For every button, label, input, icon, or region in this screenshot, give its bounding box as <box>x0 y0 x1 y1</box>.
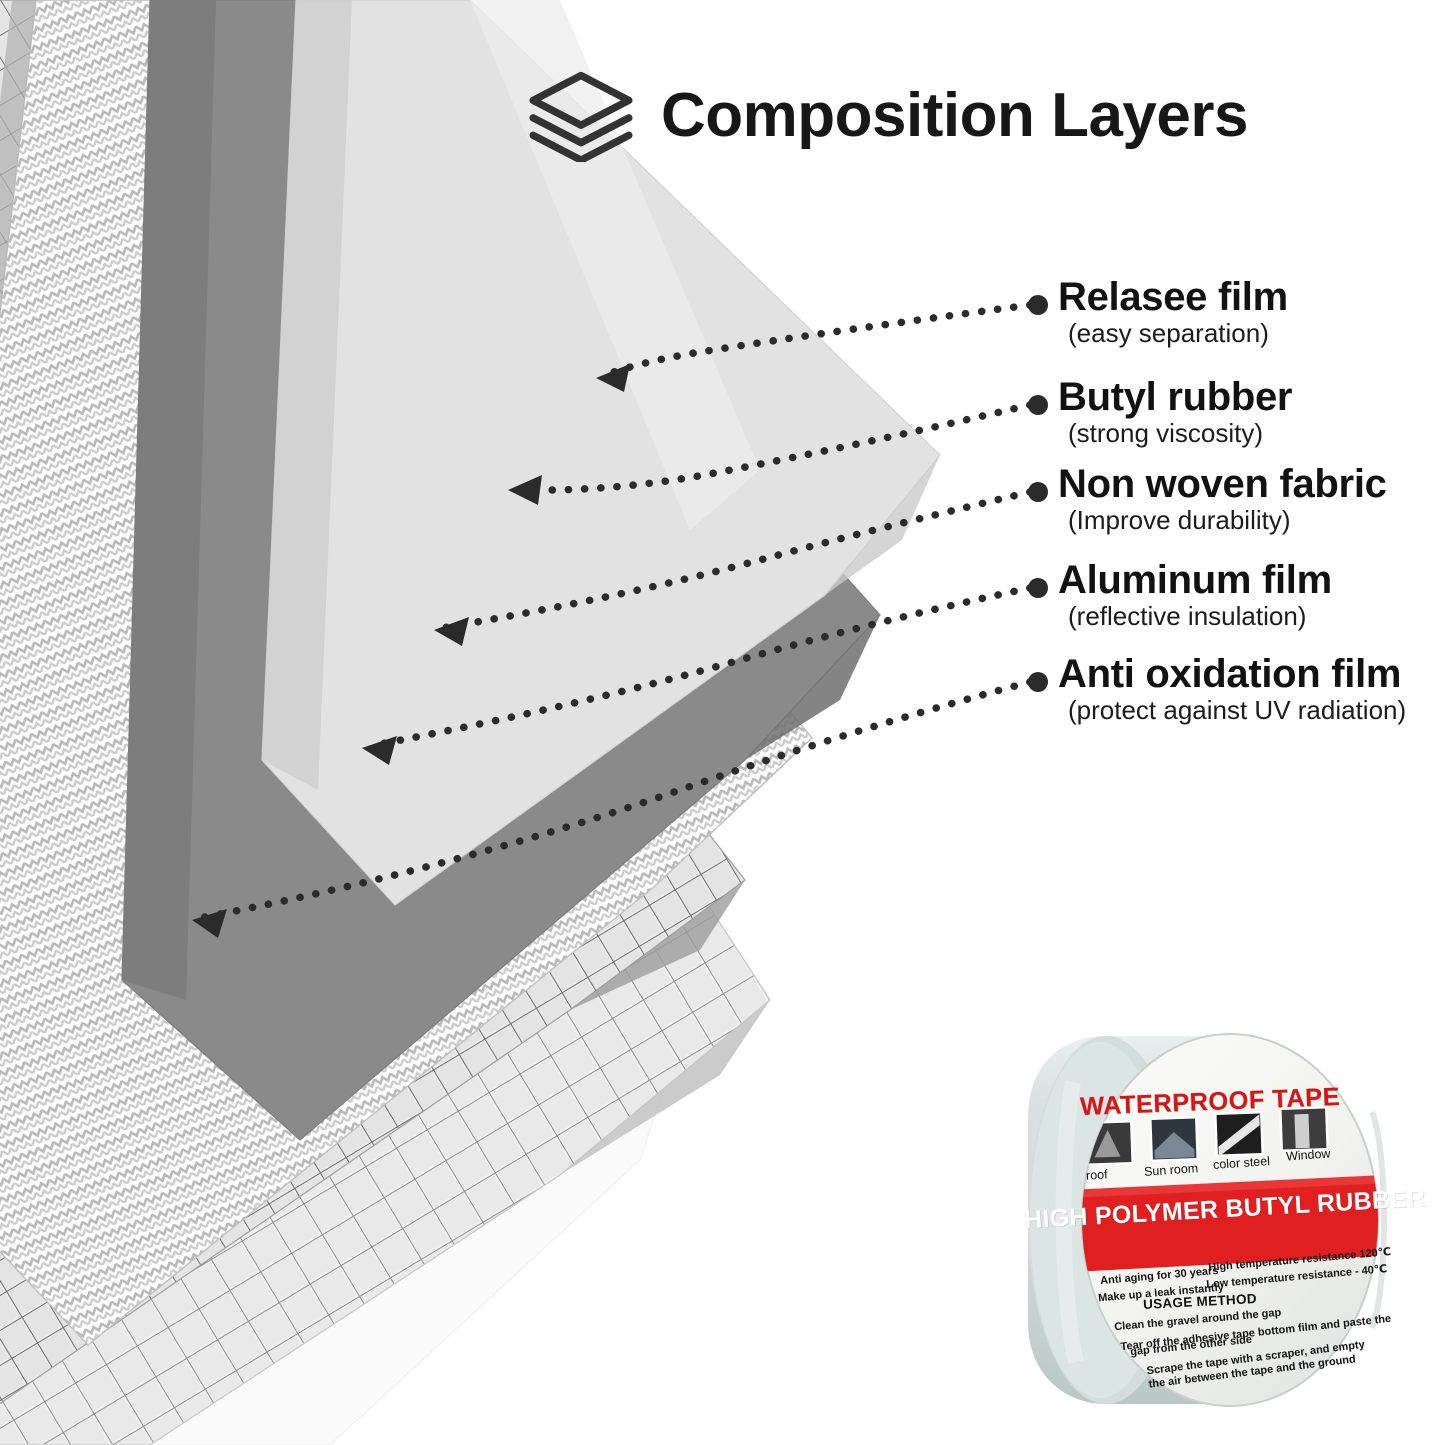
callout-title: Aluminum film <box>1058 560 1332 601</box>
layers-stack-icon <box>525 70 637 162</box>
callout-subtitle: (easy separation) <box>1068 320 1288 347</box>
callout-subtitle: (reflective insulation) <box>1068 603 1332 630</box>
infographic-canvas: Composition Layers Relasee film (easy se… <box>0 0 1445 1445</box>
callout-subtitle: (strong viscosity) <box>1068 420 1292 447</box>
callout-anti-oxidation-film: Anti oxidation film (protect against UV … <box>1058 654 1406 724</box>
callout-title: Relasee film <box>1058 277 1288 318</box>
callout-release-film: Relasee film (easy separation) <box>1058 277 1288 347</box>
callout-aluminum-film: Aluminum film (reflective insulation) <box>1058 560 1332 630</box>
page-title-group: Composition Layers <box>525 70 1248 162</box>
page-title: Composition Layers <box>661 85 1248 147</box>
callout-butyl-rubber: Butyl rubber (strong viscosity) <box>1058 377 1292 447</box>
callout-non-woven-fabric: Non woven fabric (Improve durability) <box>1058 464 1387 534</box>
callout-subtitle: (protect against UV radiation) <box>1068 697 1406 724</box>
dot-release-film <box>1028 295 1048 315</box>
product-tape-roll: WATERPROOF TAPE roof Sun room color stee… <box>968 1022 1438 1422</box>
dot-non-woven <box>1028 482 1048 502</box>
dot-butyl-rubber <box>1028 395 1048 415</box>
thumb-window-art <box>1294 1114 1309 1148</box>
dot-anti-oxidation <box>1028 672 1048 692</box>
dot-aluminum <box>1028 578 1048 598</box>
callout-subtitle: (Improve durability) <box>1068 507 1387 534</box>
callout-title: Non woven fabric <box>1058 464 1387 505</box>
callout-title: Anti oxidation film <box>1058 654 1406 695</box>
thumb-caption-roof: roof <box>1086 1167 1108 1182</box>
leader-anchor-dots <box>1028 295 1048 692</box>
callout-title: Butyl rubber <box>1058 377 1292 418</box>
